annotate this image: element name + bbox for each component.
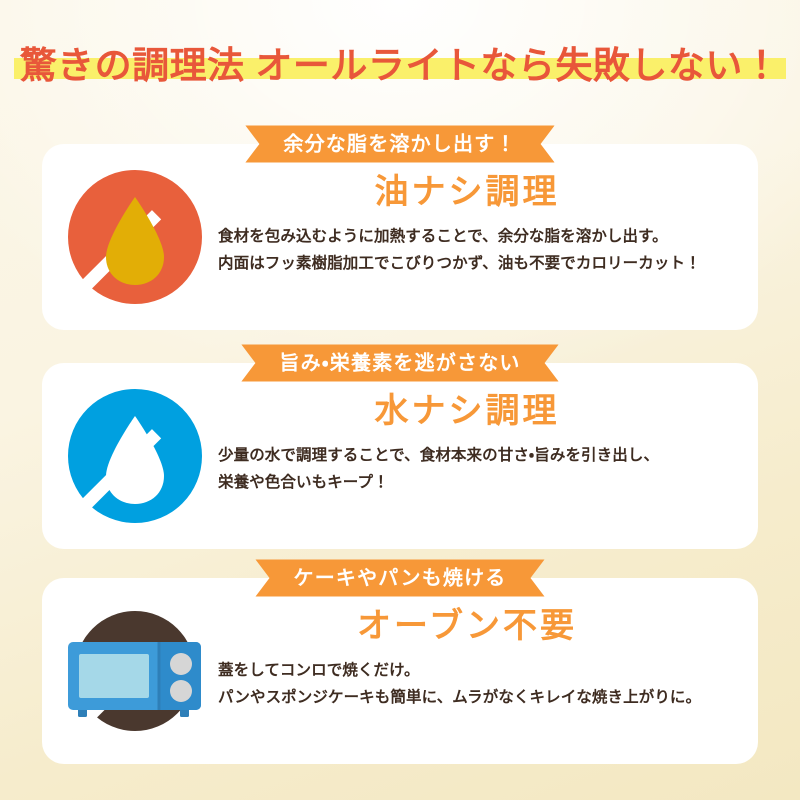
card-description-line: パンやスポンジケーキも簡単に、ムラがなくキレイな焼き上がりに。 (218, 685, 740, 712)
ribbon-label: 旨み・栄養素を逃がさない (279, 353, 520, 373)
ribbon-label: 余分な脂を溶かし出す！ (283, 134, 516, 154)
infographic-page: 驚きの調理法 オールライトなら失敗しない！ 余分な脂を溶かし出す！ 油ナシ調理 (0, 0, 800, 800)
ribbon-banner-no-oven: ケーキやパンも焼ける (256, 560, 545, 597)
ribbon-banner-no-oil: 余分な脂を溶かし出す！ (245, 126, 554, 163)
card-text-block: オーブン不要 蓋をしてコンロで焼くだけ。 パンやスポンジケーキも簡単に、ムラがな… (218, 608, 740, 712)
card-description: 食材を包み込むように加熱することで、余分な脂を溶かし出す。 内面はフッ素樹脂加工… (218, 224, 740, 277)
card-title: 油ナシ調理 (218, 174, 740, 211)
ribbon-banner-no-water: 旨み・栄養素を逃がさない (241, 345, 558, 382)
page-title: 驚きの調理法 オールライトなら失敗しない！ (20, 45, 781, 86)
header-banner: 驚きの調理法 オールライトなら失敗しない！ (0, 34, 800, 96)
feature-card-no-water: 旨み・栄養素を逃がさない 水ナシ調理 少量の水で調理することで、食材本来の甘さ・… (42, 363, 758, 549)
card-description-line: 蓋をしてコンロで焼くだけ。 (218, 658, 740, 685)
card-text-block: 油ナシ調理 食材を包み込むように加熱することで、余分な脂を溶かし出す。 内面はフ… (218, 174, 740, 278)
card-description-line: 少量の水で調理することで、食材本来の甘さ・旨みを引き出し、 (218, 443, 740, 470)
feature-card-no-oil: 余分な脂を溶かし出す！ 油ナシ調理 食材を包み込むように加熱することで、余分な脂… (42, 144, 758, 330)
card-description: 少量の水で調理することで、食材本来の甘さ・旨みを引き出し、 栄養や色合いもキープ… (218, 443, 740, 496)
card-title: 水ナシ調理 (218, 393, 740, 430)
no-oil-icon (60, 162, 210, 312)
no-oven-icon (60, 596, 210, 746)
card-description-line: 栄養や色合いもキープ！ (218, 470, 740, 497)
card-title: オーブン不要 (218, 608, 740, 645)
card-text-block: 水ナシ調理 少量の水で調理することで、食材本来の甘さ・旨みを引き出し、 栄養や色… (218, 393, 740, 497)
card-description-line: 食材を包み込むように加熱することで、余分な脂を溶かし出す。 (218, 224, 740, 251)
card-description-line: 内面はフッ素樹脂加工でこびりつかず、油も不要でカロリーカット！ (218, 251, 740, 278)
feature-card-no-oven: ケーキやパンも焼ける (42, 578, 758, 764)
card-description: 蓋をしてコンロで焼くだけ。 パンやスポンジケーキも簡単に、ムラがなくキレイな焼き… (218, 658, 740, 711)
no-water-icon (60, 381, 210, 531)
ribbon-label: ケーキやパンも焼ける (294, 568, 507, 588)
